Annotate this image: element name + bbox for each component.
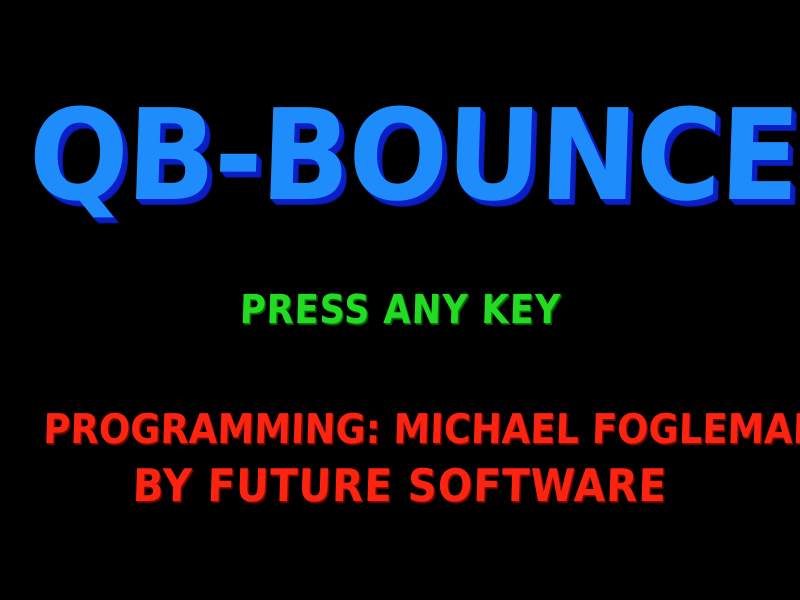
- press-any-key-prompt[interactable]: PRESS ANY KEY: [239, 288, 561, 332]
- credit-line-publisher-text: BY FUTURE SOFTWARE: [132, 460, 668, 512]
- press-any-key-container: PRESS ANY KEY: [0, 288, 800, 338]
- title-container: QB-BOUNCE: [0, 86, 800, 231]
- credits-container: PROGRAMMING: MICHAEL FOGLEMAN BY FUTURE …: [0, 406, 800, 512]
- credit-line-programming-text: PROGRAMMING: MICHAEL FOGLEMAN: [43, 406, 800, 452]
- game-splash-screen[interactable]: QB-BOUNCE PRESS ANY KEY PROGRAMMING: MIC…: [0, 0, 800, 600]
- credit-line-programming: PROGRAMMING: MICHAEL FOGLEMAN: [0, 406, 800, 452]
- credit-line-publisher: BY FUTURE SOFTWARE: [0, 460, 800, 512]
- game-title: QB-BOUNCE: [27, 86, 800, 226]
